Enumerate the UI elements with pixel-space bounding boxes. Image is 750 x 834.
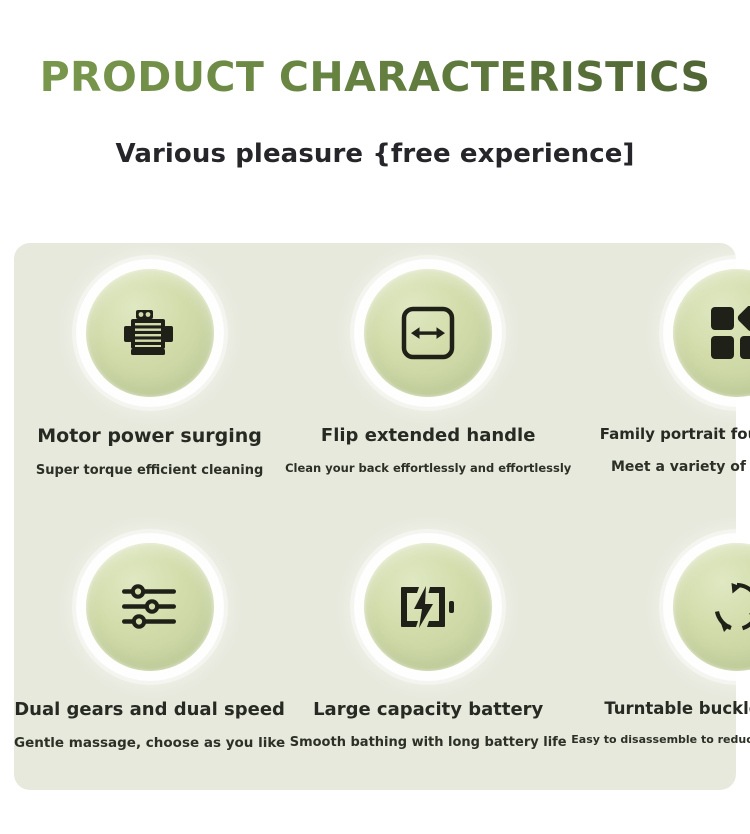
feature-subtitle: Smooth bathing with long battery life	[290, 720, 567, 751]
feature-title: Family portrait four brush heads	[600, 397, 750, 443]
feature-title: Dual gears and dual speed	[14, 671, 285, 721]
sliders-settings-icon	[122, 584, 178, 630]
feature-subtitle: Meet a variety of bathing needs	[611, 443, 750, 476]
feature-subtitle: Super torque efficient cleaning	[36, 448, 263, 479]
feature-title: Large capacity battery	[313, 671, 543, 721]
feature-icon-bubble	[86, 543, 214, 671]
feature-title: Flip extended handle	[321, 397, 536, 447]
feature-title: Turntable buckle brush head	[604, 671, 750, 719]
charging-battery-icon	[399, 585, 457, 629]
feature-subtitle: Clean your back effortlessly and effortl…	[285, 447, 571, 476]
feature-icon-bubble	[364, 543, 492, 671]
product-characteristics-page: PRODUCT CHARACTERISTICS Various pleasure…	[0, 0, 750, 834]
feature-icon-bubble	[364, 269, 492, 397]
horizontal-double-arrow-in-square-icon	[401, 306, 455, 360]
feature-item-turntable-buckle-brush-head: Turntable buckle brush head Easy to disa…	[571, 517, 750, 791]
feature-item-large-capacity-battery: Large capacity battery Smooth bathing wi…	[285, 517, 571, 791]
features-card: Motor power surging Super torque efficie…	[14, 243, 736, 790]
feature-item-four-brush-heads: Family portrait four brush heads Meet a …	[571, 243, 750, 517]
feature-subtitle: Easy to disassemble to reduce the growth…	[571, 718, 750, 746]
feature-icon-bubble	[673, 269, 750, 397]
four-brush-heads-grid-icon	[710, 306, 750, 360]
feature-item-flip-extended-handle: Flip extended handle Clean your back eff…	[285, 243, 571, 517]
page-title: PRODUCT CHARACTERISTICS	[0, 56, 750, 99]
rotate-refresh-circle-icon	[711, 581, 750, 633]
feature-icon-bubble	[86, 269, 214, 397]
motor-icon	[122, 307, 178, 359]
page-subtitle: Various pleasure {free experience]	[0, 99, 750, 169]
feature-item-motor-power-surging: Motor power surging Super torque efficie…	[14, 243, 285, 517]
feature-title: Motor power surging	[37, 397, 262, 448]
features-grid: Motor power surging Super torque efficie…	[14, 243, 736, 790]
feature-subtitle: Gentle massage, choose as you like	[14, 720, 285, 751]
page-header: PRODUCT CHARACTERISTICS Various pleasure…	[0, 0, 750, 169]
feature-item-dual-gears-dual-speed: Dual gears and dual speed Gentle massage…	[14, 517, 285, 791]
feature-icon-bubble	[673, 543, 750, 671]
